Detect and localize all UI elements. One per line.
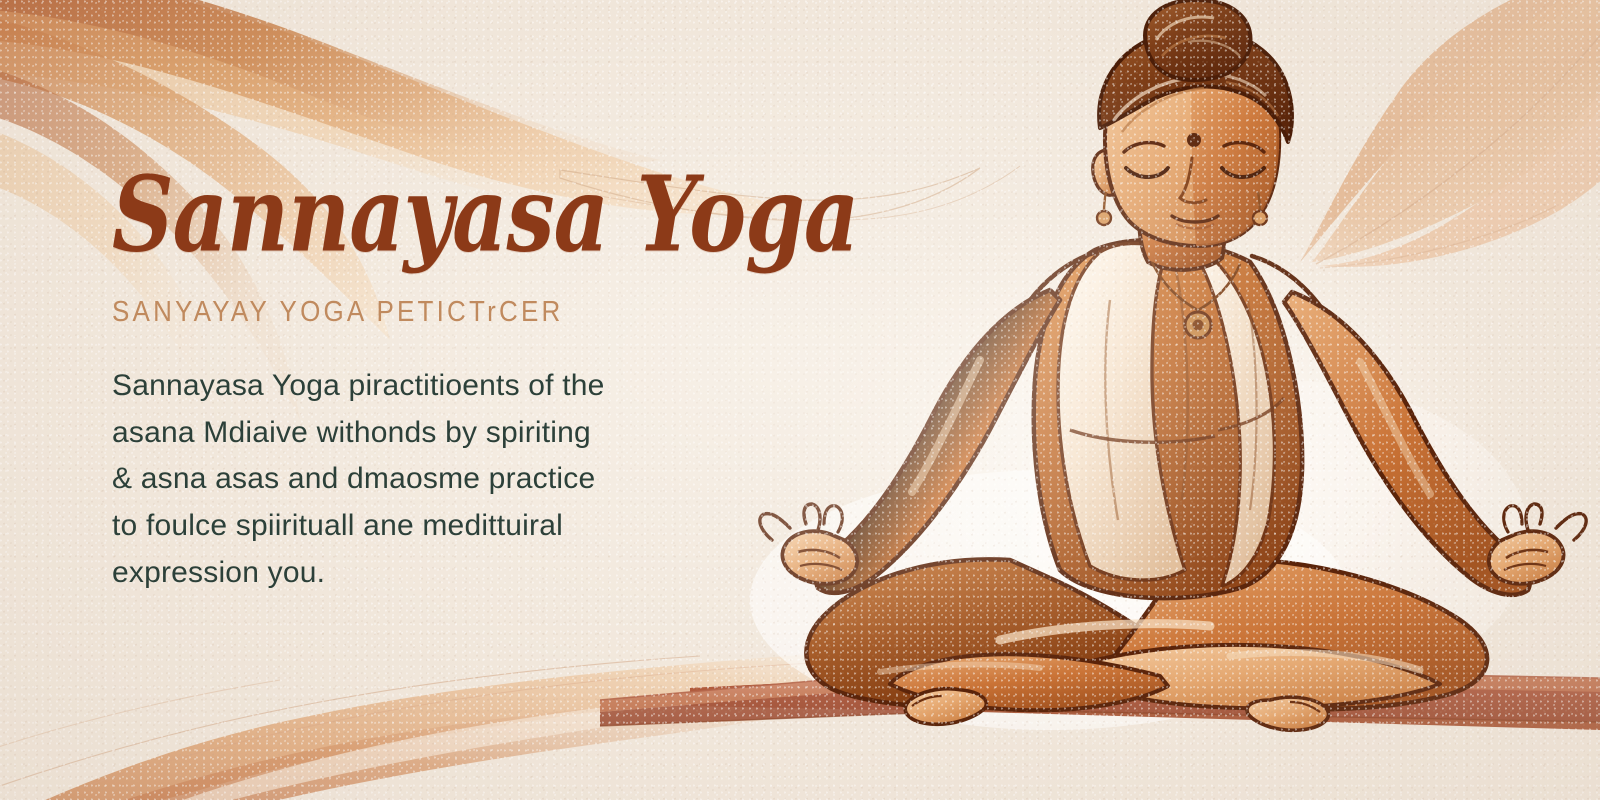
text-block: Sannayasa Yoga SANYAYAY YOGA PETICTrCER … bbox=[112, 178, 752, 597]
halo-glow bbox=[780, 180, 1540, 760]
banner-title: Sannayasa Yoga bbox=[112, 162, 733, 268]
banner-subtitle: SANYAYAY YOGA PETICTrCER bbox=[112, 294, 752, 329]
left-hand-mudra bbox=[760, 504, 857, 584]
banner-paragraph: Sannayasa Yoga piractitioents of the asa… bbox=[112, 363, 702, 597]
paragraph-line: to foulce spiirituall ane medittuiral bbox=[112, 503, 702, 550]
right-hand-mudra bbox=[1489, 504, 1586, 584]
head bbox=[1093, 0, 1292, 246]
paragraph-line: asana Mdiaive withonds by spiriting bbox=[112, 410, 702, 457]
leaf-petal-top-right bbox=[1300, 0, 1600, 268]
yoga-banner: Sannayasa Yoga SANYAYAY YOGA PETICTrCER … bbox=[0, 0, 1600, 800]
paragraph-line: expression you. bbox=[112, 550, 702, 597]
neck-shoulders bbox=[1012, 196, 1338, 336]
bindi bbox=[1187, 133, 1201, 147]
paragraph-line: & asna asas and dmaosme practice bbox=[112, 456, 702, 503]
arms bbox=[816, 290, 1529, 595]
paragraph-line: Sannayasa Yoga piractitioents of the bbox=[112, 363, 702, 410]
legs-lotus bbox=[806, 559, 1487, 731]
torso-garment bbox=[1034, 240, 1302, 598]
pendant-necklace bbox=[1152, 262, 1240, 338]
yoga-mat bbox=[600, 666, 1600, 730]
brush-sweep-bottom-left bbox=[0, 648, 950, 800]
